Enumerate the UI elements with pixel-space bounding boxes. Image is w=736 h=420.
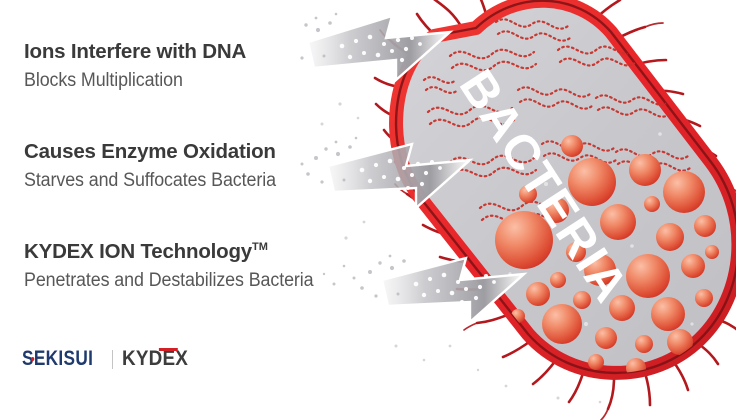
logo-sekisui-wordmark: SEKISUI: [22, 347, 93, 371]
feature-headline-text: KYDEX ION Technology: [24, 240, 252, 263]
logo-red-bar-icon: [160, 348, 179, 351]
feature-headline: Ions Interfere with DNA: [24, 40, 246, 64]
feature-block-kydex-ion-technology: KYDEX ION TechnologyTM Penetrates and De…: [24, 240, 332, 293]
feature-block-ions-interfere-with-dna: Ions Interfere with DNA Blocks Multiplic…: [24, 40, 246, 93]
feature-headline: Causes Enzyme Oxidation: [24, 140, 292, 164]
logo-red-dot-icon: [31, 357, 35, 362]
feature-block-causes-enzyme-oxidation: Causes Enzyme Oxidation Starves and Suff…: [24, 140, 292, 193]
bacteria-illustration: BACTERIA: [300, 0, 736, 420]
logo-divider: [112, 350, 114, 369]
bacteria-svg: BACTERIA: [300, 0, 736, 420]
brand-logo: SEKISUI KYDEX: [22, 346, 196, 372]
trademark-symbol: TM: [252, 241, 268, 253]
infographic-canvas: Ions Interfere with DNA Blocks Multiplic…: [0, 0, 736, 414]
logo-kydex-text: KYDEX: [122, 347, 188, 370]
feature-subline: Starves and Suffocates Bacteria: [24, 170, 276, 193]
feature-subline: Penetrates and Destabilizes Bacteria: [24, 270, 313, 293]
feature-headline: KYDEX ION TechnologyTM: [24, 240, 332, 264]
logo-kydex-wordmark: KYDEX: [122, 347, 188, 371]
feature-subline: Blocks Multiplication: [24, 70, 233, 93]
